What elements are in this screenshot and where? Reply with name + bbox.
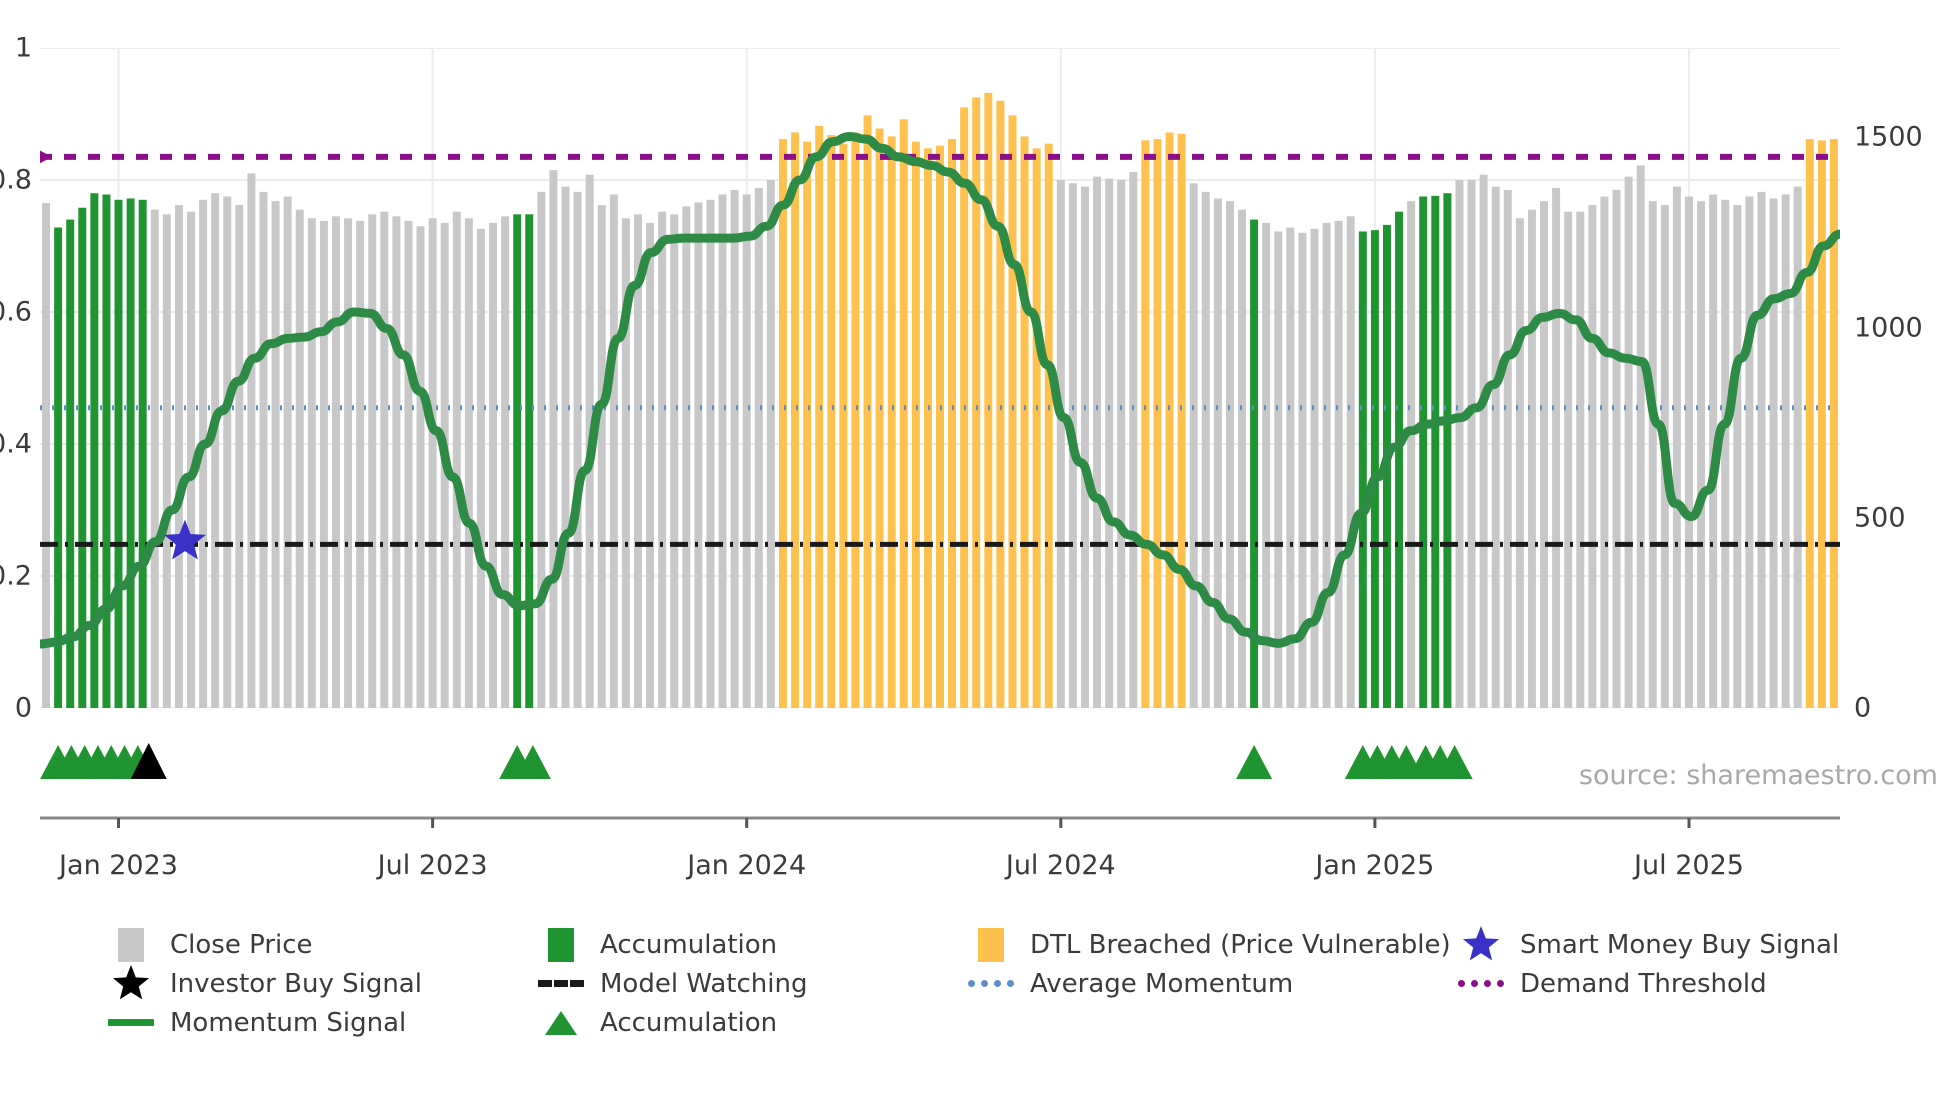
chart-root: 00.20.40.60.81 050010001500 Jan 2023Jul … [0,0,1960,1102]
model-watching-swatch-icon [538,966,584,1002]
close-price-swatch-icon [108,927,154,963]
legend-item-accumulation-tri[interactable]: Accumulation [538,1003,968,1042]
legend-label: Average Momentum [1030,971,1293,997]
legend-item-close-price[interactable]: Close Price [108,925,538,964]
star-icon [1460,925,1502,965]
accumulation-bar-swatch-icon [538,927,584,963]
line-icon [108,1019,154,1026]
dashed-line-icon [538,980,584,987]
x-axis-tick-label: Jul 2024 [1006,850,1116,881]
legend-item-smart-money[interactable]: Smart Money Buy Signal [1458,925,1928,964]
source-attribution: source: sharemaestro.com [1579,760,1938,791]
legend-label: Accumulation [600,1010,777,1036]
average-momentum-swatch-icon [968,966,1014,1002]
accumulation-tri-swatch-icon [538,1005,584,1041]
rect-icon [118,928,144,962]
x-axis-tick-label: Jul 2023 [378,850,488,881]
investor-buy-swatch-icon [108,966,154,1002]
legend-item-dtl-breached[interactable]: DTL Breached (Price Vulnerable) [968,925,1458,964]
x-axis-tick-label: Jan 2025 [1315,850,1434,881]
legend-label: Demand Threshold [1520,971,1767,997]
x-axis-tick-label: Jan 2023 [59,850,178,881]
legend-item-demand-threshold[interactable]: Demand Threshold [1458,964,1928,1003]
momentum-signal-swatch-icon [108,1005,154,1041]
x-axis-tick-label: Jul 2025 [1634,850,1744,881]
legend-label: Close Price [170,932,313,958]
dtl-breached-swatch-icon [968,927,1014,963]
legend-label: Momentum Signal [170,1010,406,1036]
star-icon [110,964,152,1004]
legend-item-investor-buy[interactable]: Investor Buy Signal [108,964,538,1003]
chart-legend: Close PriceAccumulationDTL Breached (Pri… [108,925,1928,1042]
rect-icon [978,928,1004,962]
legend-item-model-watching[interactable]: Model Watching [538,964,968,1003]
triangle-icon [541,1005,581,1041]
dotted-line-icon [1458,980,1504,987]
legend-item-average-momentum[interactable]: Average Momentum [968,964,1458,1003]
legend-label: Smart Money Buy Signal [1520,932,1839,958]
legend-label: Investor Buy Signal [170,971,422,997]
smart-money-swatch-icon [1458,927,1504,963]
legend-item-momentum-signal[interactable]: Momentum Signal [108,1003,538,1042]
x-axis-tick-label: Jan 2024 [687,850,806,881]
legend-label: Model Watching [600,971,807,997]
legend-label: DTL Breached (Price Vulnerable) [1030,932,1451,958]
rect-icon [548,928,574,962]
dotted-line-icon [968,980,1014,987]
legend-label: Accumulation [600,932,777,958]
demand-threshold-swatch-icon [1458,966,1504,1002]
legend-item-accumulation-bar[interactable]: Accumulation [538,925,968,964]
